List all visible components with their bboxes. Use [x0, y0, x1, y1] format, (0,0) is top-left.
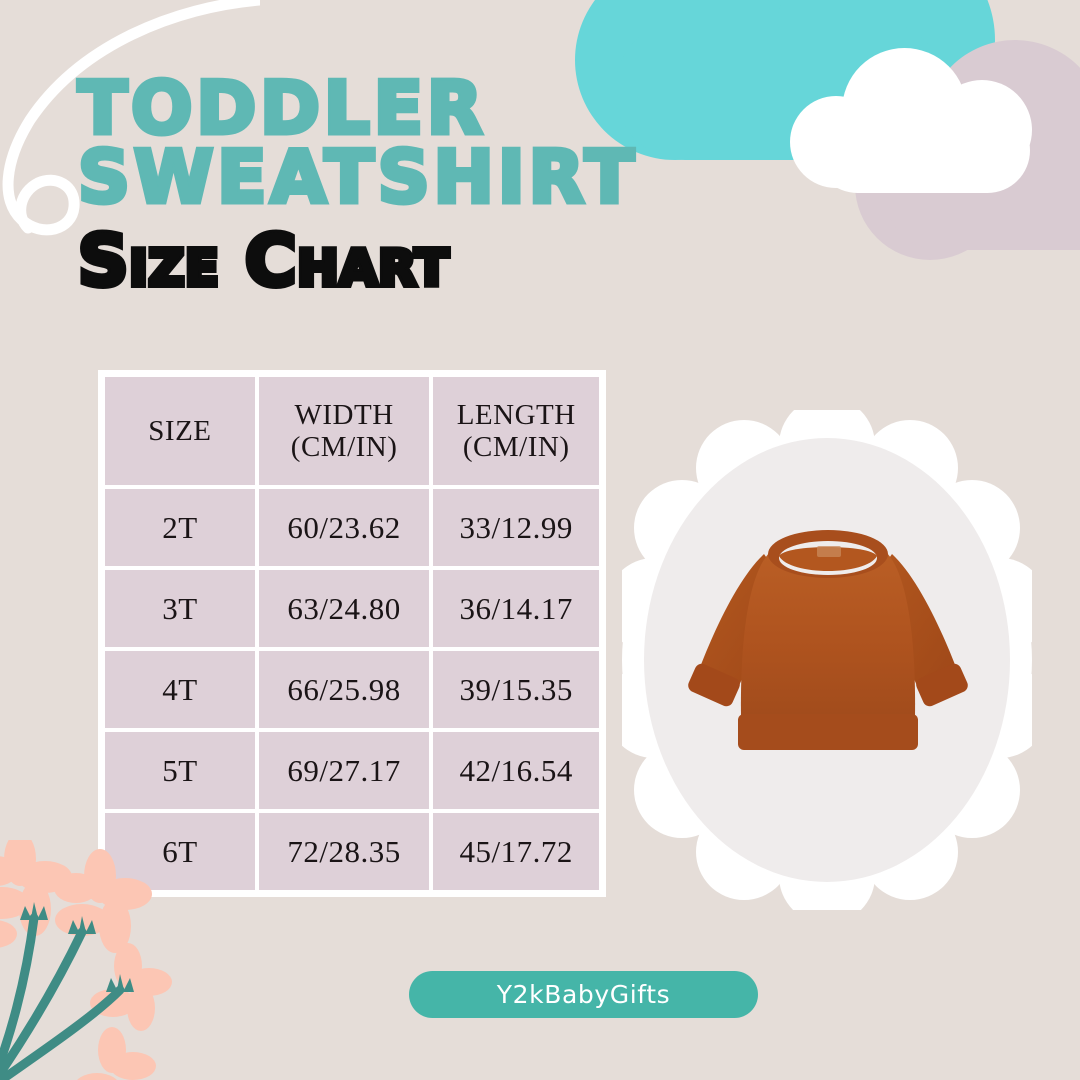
- brand-badge-label: Y2kBabyGifts: [497, 980, 671, 1009]
- column-header-width-line2: (CM/IN): [259, 431, 430, 463]
- cell-length: 39/15.35: [433, 651, 599, 728]
- column-header-width-line1: WIDTH: [259, 399, 430, 431]
- title-line-1: TODDLER: [78, 74, 778, 143]
- cell-size: 3T: [105, 570, 255, 647]
- table-row: 2T 60/23.62 33/12.99: [105, 489, 599, 566]
- flower-decoration-icon: [0, 840, 240, 1080]
- cell-width: 72/28.35: [259, 813, 430, 890]
- column-header-width: WIDTH (CM/IN): [259, 377, 430, 485]
- table-header-row: SIZE WIDTH (CM/IN) LENGTH (CM/IN): [105, 377, 599, 485]
- table-row: 5T 69/27.17 42/16.54: [105, 732, 599, 809]
- page-subtitle: Size Chart: [78, 226, 778, 296]
- page-title: TODDLER SWEATSHIRT Size Chart: [78, 74, 778, 296]
- size-chart-poster: TODDLER SWEATSHIRT Size Chart SIZE WIDTH…: [0, 0, 1080, 1080]
- cell-length: 45/17.72: [433, 813, 599, 890]
- cell-width: 69/27.17: [259, 732, 430, 809]
- column-header-length-line1: LENGTH: [433, 399, 599, 431]
- cell-width: 60/23.62: [259, 489, 430, 566]
- column-header-size: SIZE: [105, 377, 255, 485]
- cell-size: 4T: [105, 651, 255, 728]
- product-photo-backdrop: [644, 438, 1010, 882]
- table-row: 4T 66/25.98 39/15.35: [105, 651, 599, 728]
- table-row: 3T 63/24.80 36/14.17: [105, 570, 599, 647]
- cell-width: 63/24.80: [259, 570, 430, 647]
- white-cloud-icon: [790, 48, 1080, 198]
- column-header-size-line1: SIZE: [105, 415, 255, 447]
- cell-length: 33/12.99: [433, 489, 599, 566]
- cell-length: 36/14.17: [433, 570, 599, 647]
- column-header-length: LENGTH (CM/IN): [433, 377, 599, 485]
- sweatshirt-image: [672, 502, 984, 802]
- product-image-frame: [622, 410, 1032, 910]
- column-header-length-line2: (CM/IN): [433, 431, 599, 463]
- cell-width: 66/25.98: [259, 651, 430, 728]
- size-chart-table: SIZE WIDTH (CM/IN) LENGTH (CM/IN) 2T 60/…: [98, 370, 606, 897]
- neck-label-icon: [817, 546, 841, 557]
- cell-size: 5T: [105, 732, 255, 809]
- brand-badge[interactable]: Y2kBabyGifts: [409, 971, 758, 1018]
- cell-length: 42/16.54: [433, 732, 599, 809]
- title-line-2: SWEATSHIRT: [78, 143, 778, 212]
- cell-size: 2T: [105, 489, 255, 566]
